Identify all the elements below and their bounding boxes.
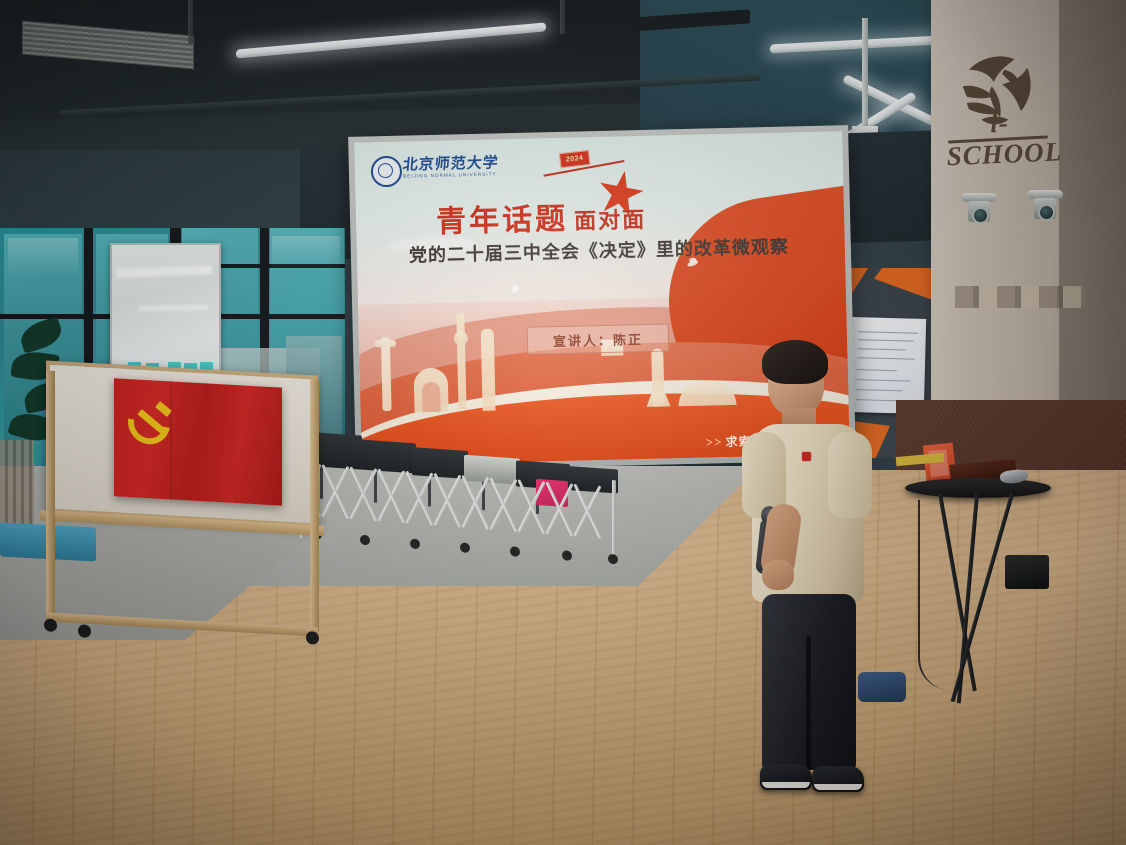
landmark-arch-cut [422, 382, 441, 412]
hammer-and-sickle-icon [128, 399, 176, 444]
whiteboard-leg [46, 370, 55, 617]
lapel-badge [802, 452, 811, 461]
speaker-name: 宣讲人：陈正 [553, 329, 643, 350]
presenter-shoe [760, 764, 812, 790]
presenter-hair [762, 340, 828, 384]
caster-wheel [44, 618, 57, 632]
pillar-decor-strip [955, 286, 1085, 308]
slide-title-main: 青年话题 [436, 203, 569, 239]
caster-wheel [78, 624, 91, 638]
presenter-hand [762, 560, 794, 590]
landmark-skyscraper [481, 329, 496, 411]
university-logo: 北京师范大学 BEIJING NORMAL UNIVERSITY [371, 152, 492, 189]
ceiling-pipe [560, 0, 565, 34]
landmark-huabiao [381, 337, 392, 411]
wall-camera-icon [961, 193, 997, 223]
whiteboard-with-flag [40, 360, 322, 656]
party-flag [114, 378, 282, 505]
presenter-shoe [812, 766, 864, 792]
whiteboard-leg [310, 379, 319, 632]
ceiling-pipe [188, 0, 193, 44]
presenter-pants-split [806, 636, 811, 770]
slide-title: 青年话题面对面 [436, 192, 647, 241]
presenter-sleeve [828, 432, 872, 518]
camera-stem [862, 18, 868, 128]
presenter [744, 336, 892, 816]
slide-title-sub: 面对面 [574, 207, 647, 234]
photo-scene: 北京师范大学 BEIJING NORMAL UNIVERSITY 2024 青年… [0, 0, 1126, 845]
footer-arrow-left: >> [706, 434, 723, 449]
speaker-name-box: 宣讲人：陈正 [527, 323, 670, 354]
university-seal-icon [371, 156, 403, 188]
university-name-en: BEIJING NORMAL UNIVERSITY [403, 171, 497, 178]
landmark-huabiao-top [375, 340, 396, 347]
wall-camera-icon [1027, 190, 1063, 220]
cable [918, 500, 950, 690]
equipment-box [1005, 555, 1049, 589]
caster-wheel [306, 631, 319, 645]
